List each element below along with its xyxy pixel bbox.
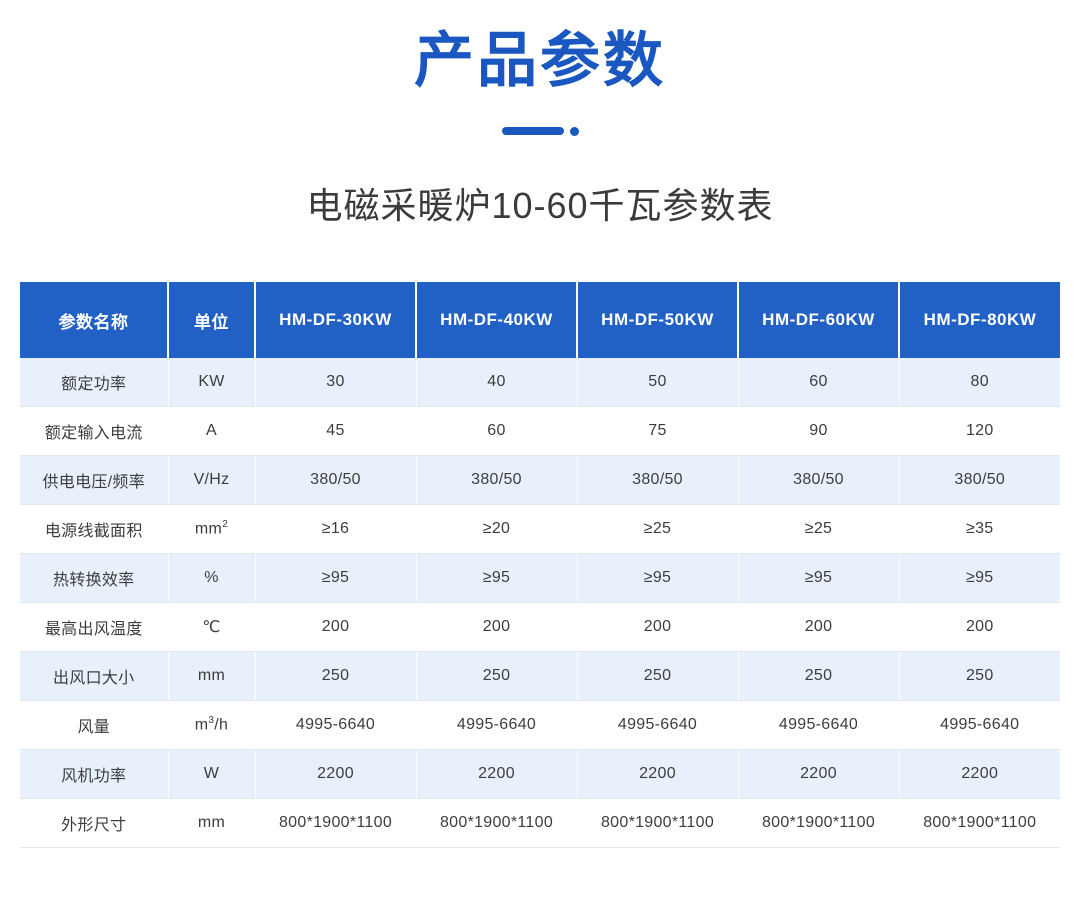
cell-value: 4995-6640: [738, 701, 899, 750]
divider-dot-icon: [570, 127, 579, 136]
table-row: 风机功率W22002200220022002200: [20, 750, 1060, 799]
cell-unit: KW: [168, 358, 255, 407]
column-header-model-60kw: HM-DF-60KW: [738, 282, 899, 358]
cell-value: 4995-6640: [416, 701, 577, 750]
cell-param-name: 最高出风温度: [20, 603, 168, 652]
cell-value: ≥95: [416, 554, 577, 603]
cell-value: ≥95: [255, 554, 416, 603]
cell-param-name: 电源线截面积: [20, 505, 168, 554]
cell-value: 380/50: [255, 456, 416, 505]
cell-value: 800*1900*1100: [416, 799, 577, 848]
cell-value: 90: [738, 407, 899, 456]
cell-unit: mm2: [168, 505, 255, 554]
cell-value: ≥25: [738, 505, 899, 554]
table-row: 出风口大小mm250250250250250: [20, 652, 1060, 701]
cell-unit: W: [168, 750, 255, 799]
column-header-model-80kw: HM-DF-80KW: [899, 282, 1060, 358]
cell-value: 40: [416, 358, 577, 407]
cell-value: 120: [899, 407, 1060, 456]
cell-value: 2200: [899, 750, 1060, 799]
page-heading: 产品参数 电磁采暖炉10-60千瓦参数表: [0, 0, 1080, 229]
table-row: 额定功率KW3040506080: [20, 358, 1060, 407]
cell-value: 800*1900*1100: [577, 799, 738, 848]
cell-value: 75: [577, 407, 738, 456]
cell-value: 380/50: [899, 456, 1060, 505]
cell-value: 2200: [416, 750, 577, 799]
table-row: 电源线截面积mm2≥16≥20≥25≥25≥35: [20, 505, 1060, 554]
cell-param-name: 额定功率: [20, 358, 168, 407]
spec-table: 参数名称 单位 HM-DF-30KW HM-DF-40KW HM-DF-50KW…: [20, 282, 1060, 848]
title-divider: [0, 125, 1080, 137]
cell-value: 4995-6640: [255, 701, 416, 750]
divider-bar-icon: [502, 127, 564, 135]
cell-value: 380/50: [577, 456, 738, 505]
unit-superscript: 3: [208, 715, 214, 726]
cell-unit: mm: [168, 652, 255, 701]
cell-value: 45: [255, 407, 416, 456]
cell-value: ≥95: [577, 554, 738, 603]
table-header: 参数名称 单位 HM-DF-30KW HM-DF-40KW HM-DF-50KW…: [20, 282, 1060, 358]
cell-param-name: 热转换效率: [20, 554, 168, 603]
cell-value: ≥25: [577, 505, 738, 554]
cell-param-name: 风机功率: [20, 750, 168, 799]
cell-value: 4995-6640: [899, 701, 1060, 750]
cell-value: 200: [899, 603, 1060, 652]
unit-superscript: 2: [222, 519, 228, 530]
column-header-param-name: 参数名称: [20, 282, 168, 358]
cell-value: ≥95: [738, 554, 899, 603]
cell-unit: m3/h: [168, 701, 255, 750]
table-row: 额定输入电流A45607590120: [20, 407, 1060, 456]
cell-value: 50: [577, 358, 738, 407]
cell-param-name: 风量: [20, 701, 168, 750]
table-row: 热转换效率%≥95≥95≥95≥95≥95: [20, 554, 1060, 603]
cell-value: 250: [899, 652, 1060, 701]
cell-unit: mm: [168, 799, 255, 848]
page-subtitle: 电磁采暖炉10-60千瓦参数表: [0, 137, 1080, 229]
table-header-row: 参数名称 单位 HM-DF-30KW HM-DF-40KW HM-DF-50KW…: [20, 282, 1060, 358]
table-row: 风量m3/h4995-66404995-66404995-66404995-66…: [20, 701, 1060, 750]
column-header-model-30kw: HM-DF-30KW: [255, 282, 416, 358]
cell-value: ≥16: [255, 505, 416, 554]
cell-unit: V/Hz: [168, 456, 255, 505]
spec-table-container: 参数名称 单位 HM-DF-30KW HM-DF-40KW HM-DF-50KW…: [20, 229, 1060, 848]
cell-value: 2200: [255, 750, 416, 799]
cell-value: 2200: [738, 750, 899, 799]
column-header-model-50kw: HM-DF-50KW: [577, 282, 738, 358]
cell-value: 250: [577, 652, 738, 701]
cell-value: 4995-6640: [577, 701, 738, 750]
page-title: 产品参数: [0, 26, 1080, 95]
cell-param-name: 外形尺寸: [20, 799, 168, 848]
cell-unit: A: [168, 407, 255, 456]
cell-value: 380/50: [738, 456, 899, 505]
cell-param-name: 额定输入电流: [20, 407, 168, 456]
table-body: 额定功率KW3040506080额定输入电流A45607590120供电电压/频…: [20, 358, 1060, 848]
table-row: 最高出风温度℃200200200200200: [20, 603, 1060, 652]
table-row: 外形尺寸mm800*1900*1100800*1900*1100800*1900…: [20, 799, 1060, 848]
cell-value: 800*1900*1100: [255, 799, 416, 848]
cell-value: 2200: [577, 750, 738, 799]
column-header-unit: 单位: [168, 282, 255, 358]
cell-value: 200: [738, 603, 899, 652]
cell-value: 200: [416, 603, 577, 652]
product-parameter-page: 产品参数 电磁采暖炉10-60千瓦参数表 参数名称 单位 HM-DF-30: [0, 0, 1080, 914]
cell-value: ≥20: [416, 505, 577, 554]
cell-value: 800*1900*1100: [899, 799, 1060, 848]
cell-value: 30: [255, 358, 416, 407]
cell-value: ≥35: [899, 505, 1060, 554]
cell-value: 200: [577, 603, 738, 652]
cell-value: 800*1900*1100: [738, 799, 899, 848]
cell-unit: ℃: [168, 603, 255, 652]
cell-value: 380/50: [416, 456, 577, 505]
cell-value: 80: [899, 358, 1060, 407]
cell-unit: %: [168, 554, 255, 603]
cell-value: ≥95: [899, 554, 1060, 603]
cell-param-name: 供电电压/频率: [20, 456, 168, 505]
cell-value: 60: [416, 407, 577, 456]
table-row: 供电电压/频率V/Hz380/50380/50380/50380/50380/5…: [20, 456, 1060, 505]
cell-value: 200: [255, 603, 416, 652]
cell-value: 250: [738, 652, 899, 701]
cell-value: 250: [255, 652, 416, 701]
column-header-model-40kw: HM-DF-40KW: [416, 282, 577, 358]
cell-param-name: 出风口大小: [20, 652, 168, 701]
cell-value: 250: [416, 652, 577, 701]
cell-value: 60: [738, 358, 899, 407]
